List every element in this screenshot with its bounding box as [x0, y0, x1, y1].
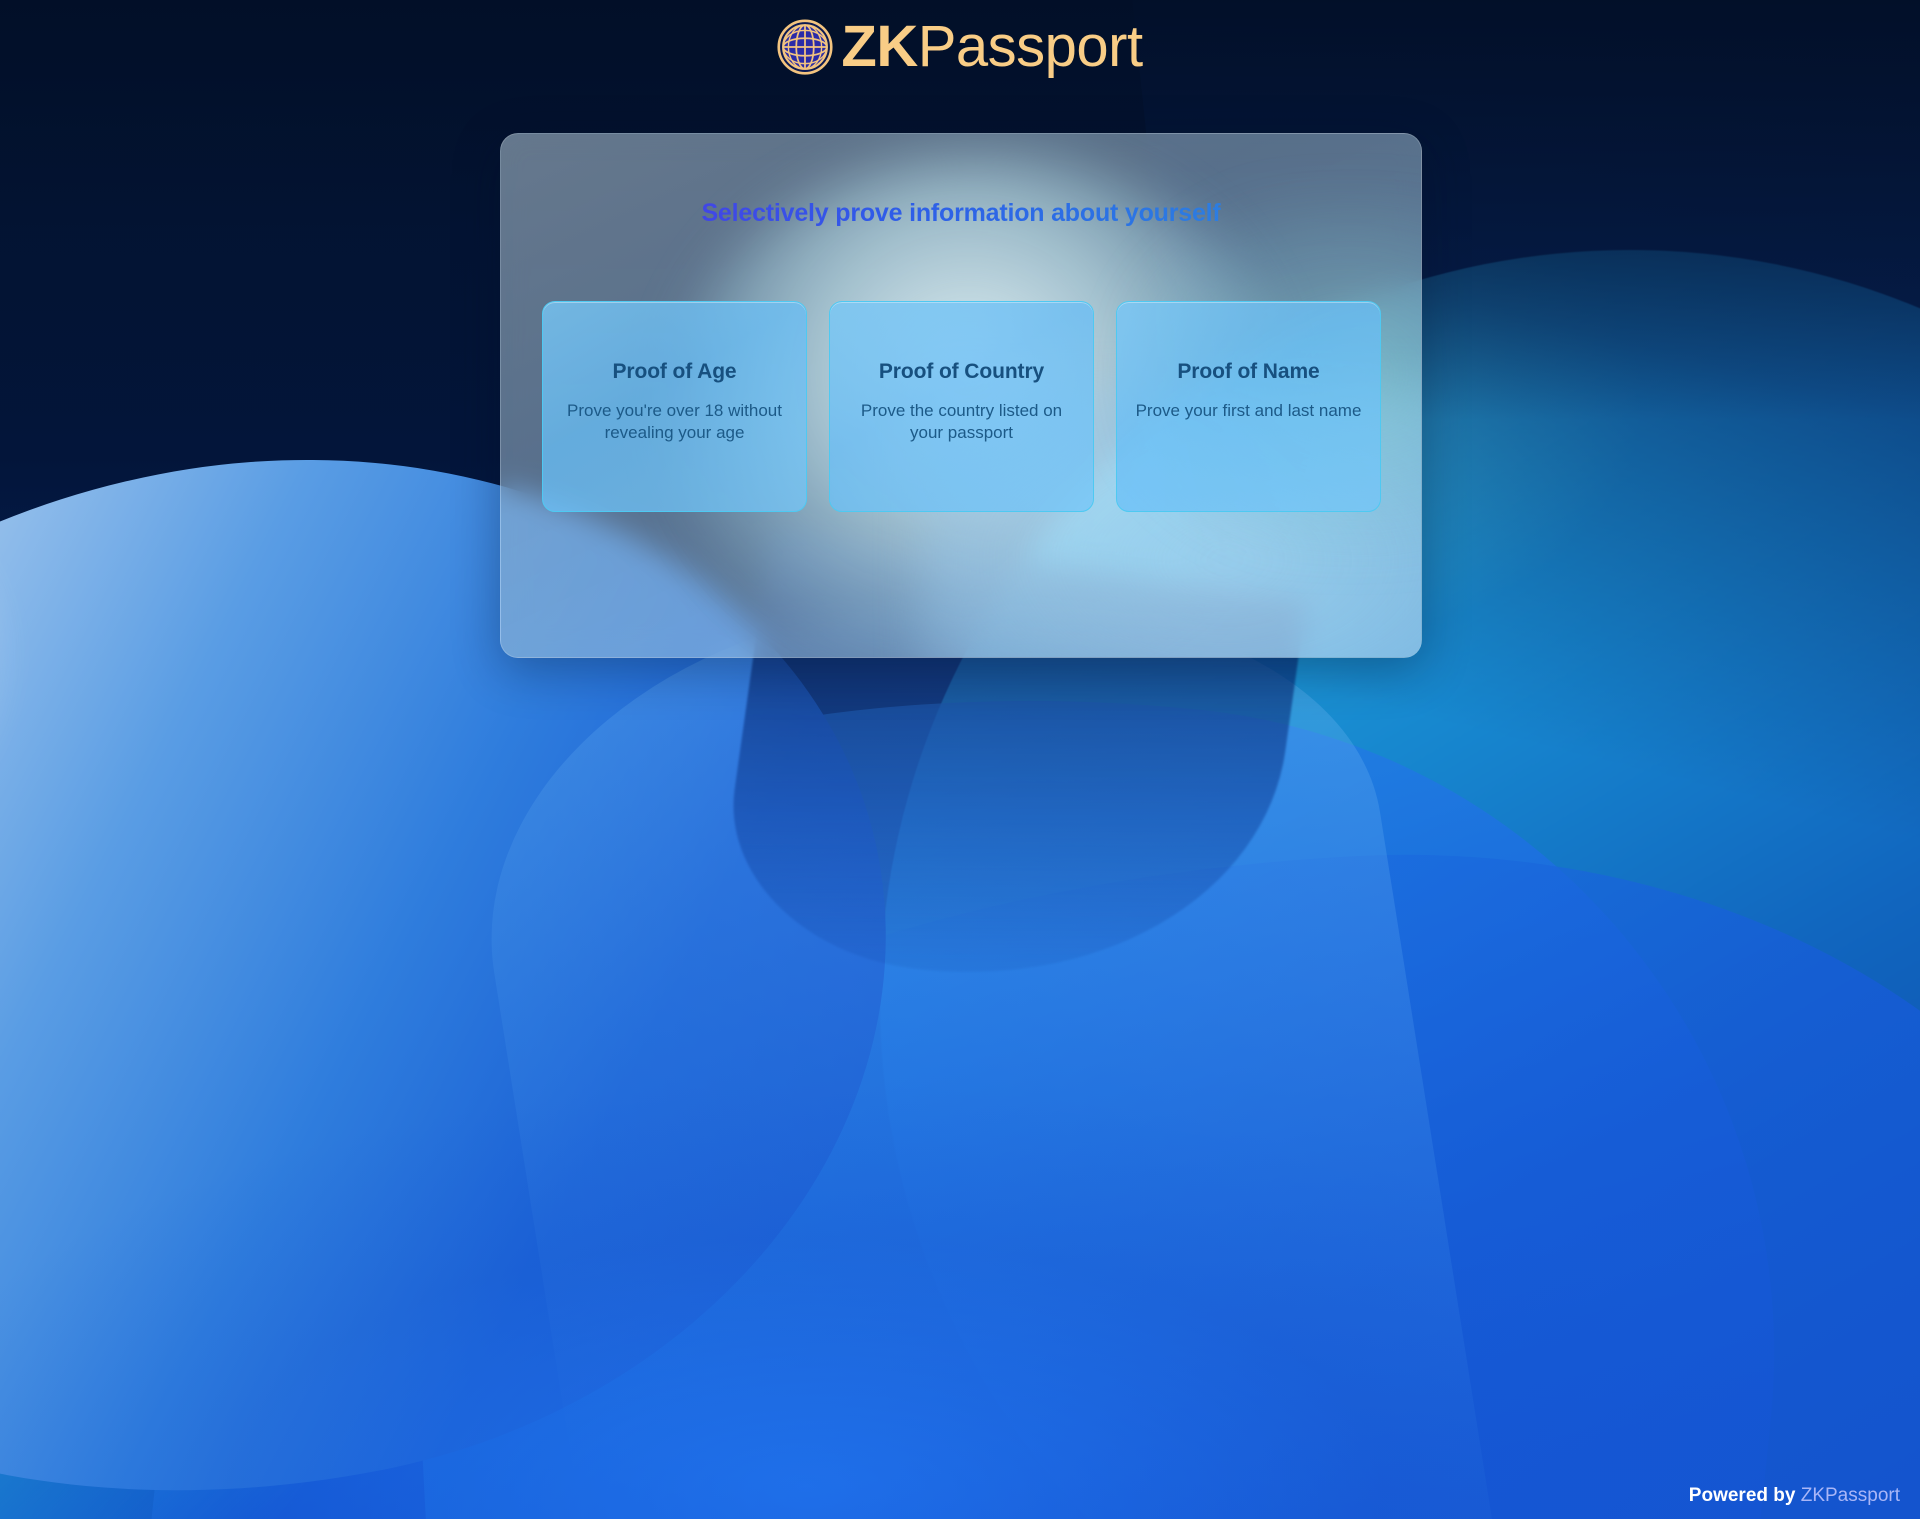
powered-by-label: Powered by — [1689, 1485, 1796, 1506]
proof-card-country-title: Proof of Country — [879, 360, 1044, 384]
app-logo: ZKPassport — [0, 18, 1920, 76]
proof-card-country[interactable]: Proof of Country Prove the country liste… — [829, 301, 1094, 512]
proof-card-country-description: Prove the country listed on your passpor… — [844, 400, 1079, 444]
app-root: ZKPassport Selectively prove information… — [0, 0, 1920, 1519]
powered-by-footer: Powered by ZKPassport — [1689, 1485, 1900, 1507]
background-bottom-glow — [0, 939, 1920, 1519]
logo-wordmark-zk: ZK — [841, 14, 917, 79]
proof-card-name-description: Prove your first and last name — [1136, 400, 1362, 422]
powered-by-brand[interactable]: ZKPassport — [1801, 1485, 1900, 1506]
page-title: Selectively prove information about your… — [501, 199, 1421, 228]
proof-card-age[interactable]: Proof of Age Prove you're over 18 withou… — [542, 301, 807, 512]
proof-card-name[interactable]: Proof of Name Prove your first and last … — [1116, 301, 1381, 512]
proof-card-name-title: Proof of Name — [1177, 360, 1319, 384]
proof-cards-row: Proof of Age Prove you're over 18 withou… — [542, 301, 1382, 512]
proof-card-age-description: Prove you're over 18 without revealing y… — [557, 400, 792, 444]
globe-icon — [777, 19, 833, 75]
proof-selection-panel: Selectively prove information about your… — [500, 133, 1422, 658]
logo-wordmark-passport: Passport — [918, 14, 1143, 79]
logo-wordmark: ZKPassport — [841, 18, 1142, 76]
proof-card-age-title: Proof of Age — [612, 360, 736, 384]
